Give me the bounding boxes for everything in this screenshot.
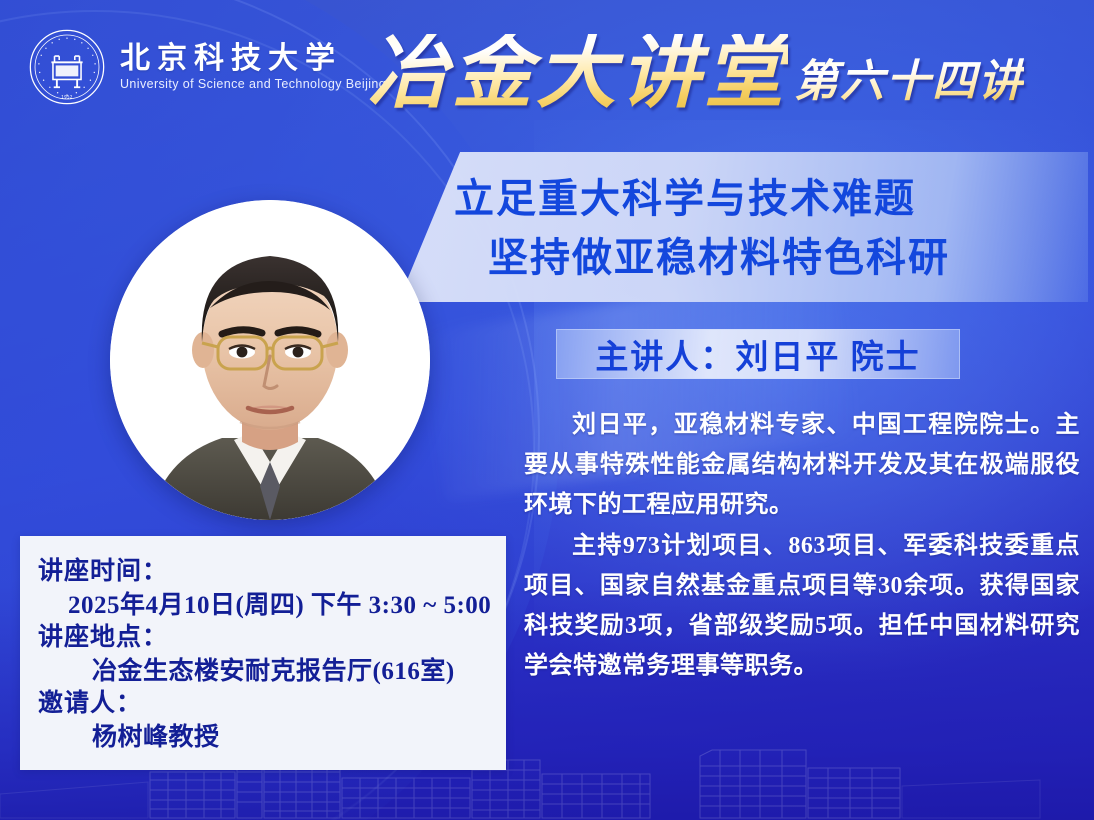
- speaker-biography: 刘日平，亚稳材料专家、中国工程院院士。主要从事特殊性能金属结构材料开发及其在极端…: [524, 406, 1080, 689]
- lecture-place-value: 冶金生态楼安耐克报告厅(616室): [38, 655, 490, 689]
- lecture-time-label: 讲座时间：: [38, 556, 490, 589]
- subtitle-line-1: 立足重大科学与技术难题: [440, 169, 1080, 228]
- lecture-inviter-label: 邀请人：: [38, 688, 490, 721]
- ustb-seal-icon: 1952: [28, 28, 106, 106]
- lecture-time-value: 2025年4月10日(周四) 下午 3:30 ~ 5:00: [38, 589, 490, 623]
- speaker-portrait: [110, 200, 430, 520]
- lecture-info-panel: 讲座时间： 2025年4月10日(周四) 下午 3:30 ~ 5:00 讲座地点…: [20, 536, 506, 770]
- speaker-portrait-image: [110, 200, 430, 520]
- bio-paragraph-2: 主持973计划项目、863项目、军委科技委重点项目、国家自然基金重点项目等30余…: [524, 527, 1080, 686]
- series-title-main: 冶金大讲堂: [368, 34, 788, 114]
- university-branding: 1952 北京科技大学 University of Science and Te…: [28, 28, 386, 106]
- series-title-group: 冶金大讲堂 第六十四讲: [368, 34, 1024, 114]
- subtitle-banner: 立足重大科学与技术难题 坚持做亚稳材料特色科研: [440, 158, 1080, 298]
- lecture-poster: 1952 北京科技大学 University of Science and Te…: [0, 0, 1094, 820]
- subtitle-line-2: 坚持做亚稳材料特色科研: [440, 228, 1080, 287]
- svg-text:1952: 1952: [61, 95, 73, 100]
- bio-paragraph-1: 刘日平，亚稳材料专家、中国工程院院士。主要从事特殊性能金属结构材料开发及其在极端…: [524, 406, 1080, 525]
- lecture-inviter-value: 杨树峰教授: [38, 721, 490, 755]
- university-name-cn: 北京科技大学: [120, 43, 386, 75]
- series-episode-number: 第六十四讲: [794, 58, 1024, 114]
- speaker-banner: 主讲人：刘日平 院士: [556, 329, 960, 379]
- lecture-place-label: 讲座地点：: [38, 622, 490, 655]
- university-name-en: University of Science and Technology Bei…: [120, 77, 386, 91]
